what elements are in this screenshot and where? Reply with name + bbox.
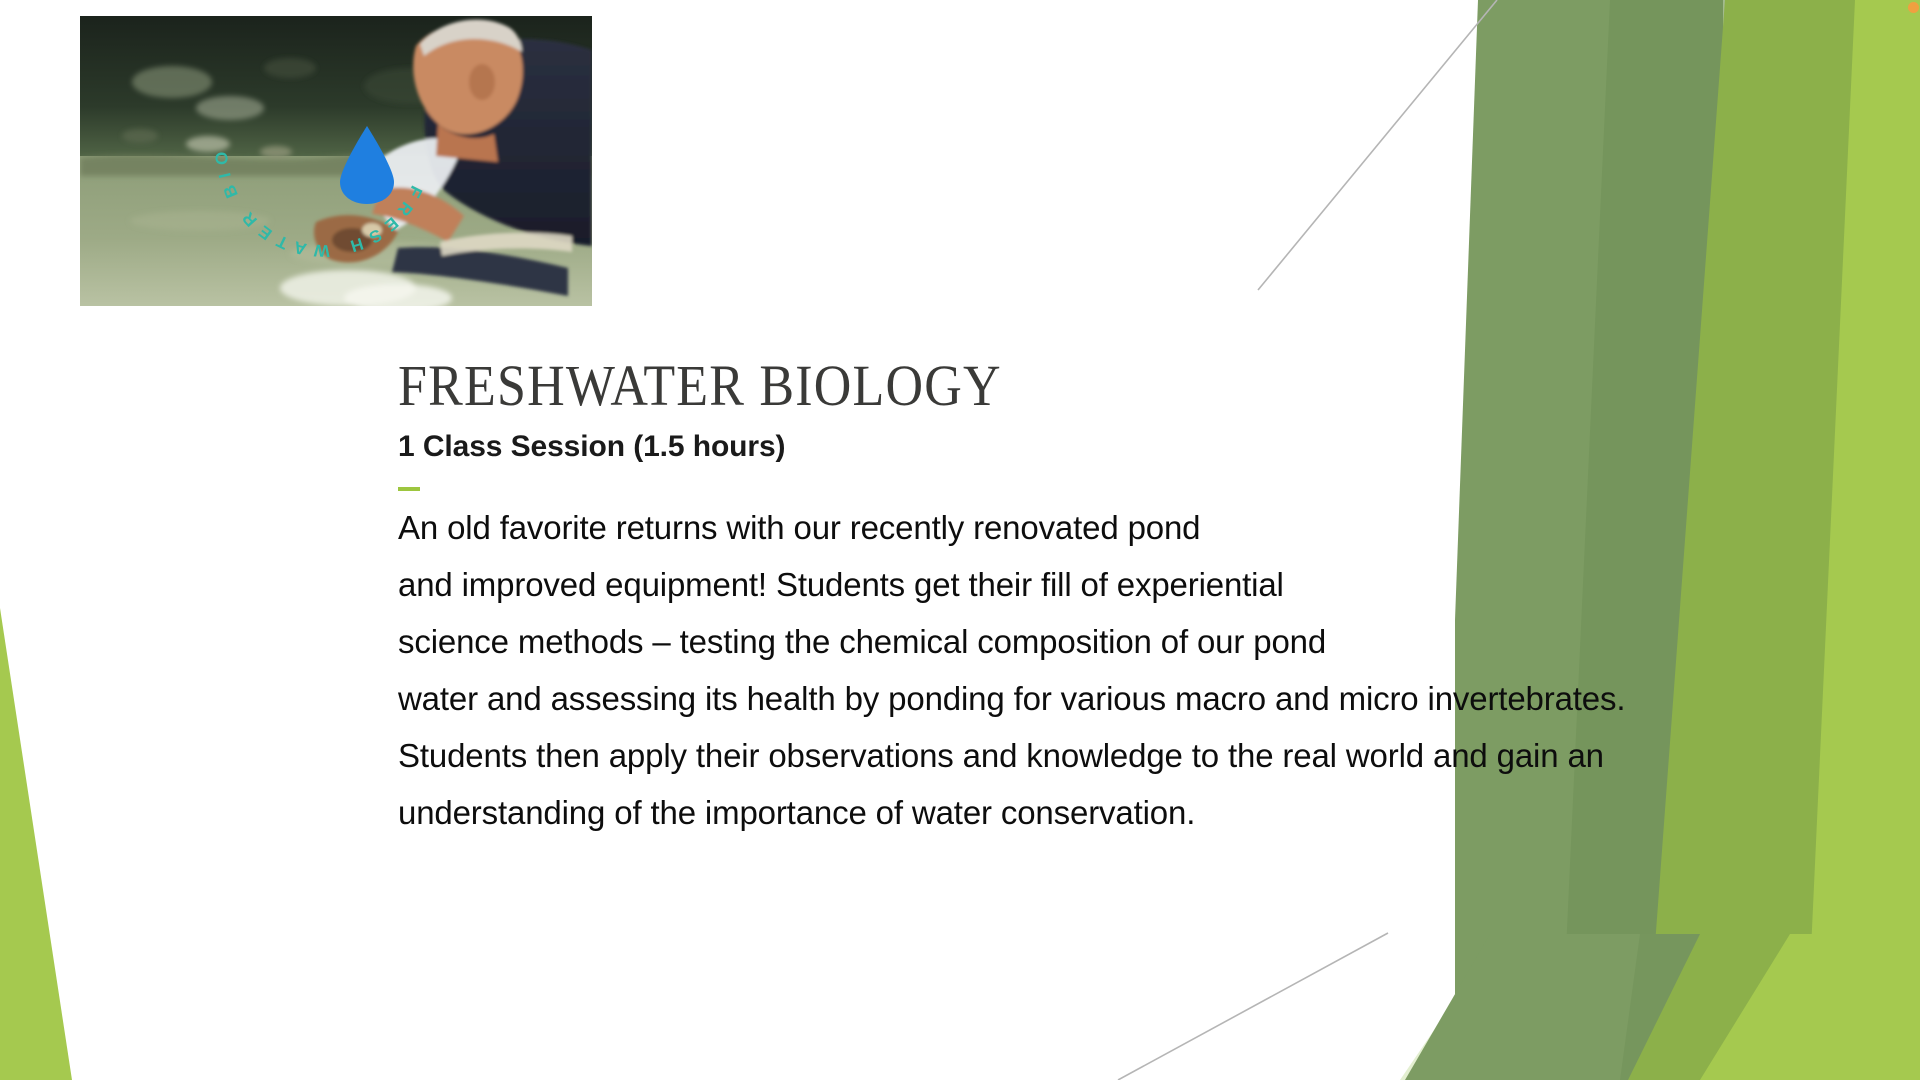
slide-text-column: FRESHWATER BIOLOGY 1 Class Session (1.5 … (398, 358, 1920, 841)
body-line: Students then apply their observations a… (398, 727, 1920, 784)
cursor-indicator-dot (1908, 2, 1919, 13)
deco-shape-bottom-deep (1620, 934, 1800, 1080)
deco-shape-bottom-light (1700, 934, 1920, 1080)
deco-shape-top-pale (1480, 0, 1920, 300)
body-line: and improved equipment! Students get the… (398, 556, 1920, 613)
page-title: FRESHWATER BIOLOGY (398, 358, 1920, 416)
deco-hairline-top (1258, 0, 1497, 290)
body-line: An old favorite returns with our recentl… (398, 499, 1920, 556)
body-line: understanding of the importance of water… (398, 784, 1920, 841)
body-line: water and assessing its health by pondin… (398, 670, 1920, 727)
slide-subtitle: 1 Class Session (1.5 hours) (398, 430, 1920, 463)
freshwater-biology-photo-block: FRESH WATER BIOLOGY (80, 16, 592, 306)
green-dash-marker (398, 487, 420, 491)
presentation-slide: FRESH WATER BIOLOGY FRESHWATER BIOLOGY 1… (0, 0, 1920, 1080)
deco-hairline-bottom (1118, 933, 1388, 1080)
slide-body-text: An old favorite returns with our recentl… (398, 499, 1920, 841)
body-line: science methods – testing the chemical c… (398, 613, 1920, 670)
deco-shape-bottom-mid (1628, 934, 1920, 1080)
water-droplet-icon (338, 124, 396, 206)
deco-shape-bottom-sage (1405, 934, 1920, 1080)
deco-shape-bottomleft (0, 608, 72, 1080)
deco-shape-bottom-pale (1400, 936, 1920, 1080)
freshwater-biology-circular-logo-text: FRESH WATER BIOLOGY (198, 24, 448, 274)
